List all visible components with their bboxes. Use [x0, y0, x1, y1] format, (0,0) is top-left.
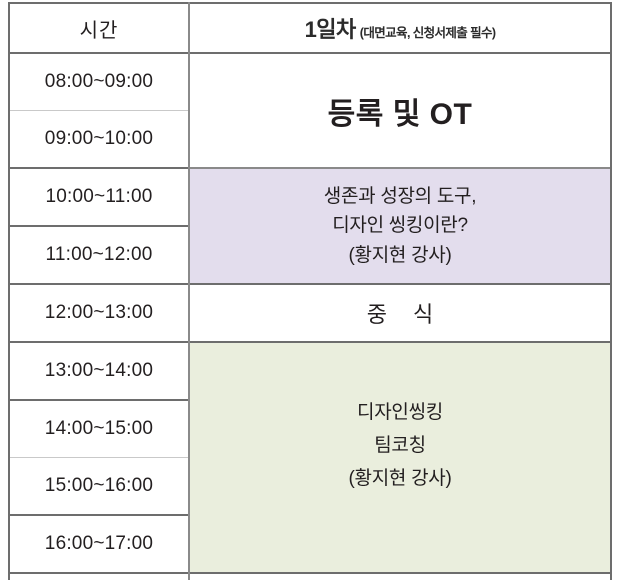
lecture-line-3: (황지현 강사)	[190, 241, 610, 270]
time-cell: 08:00~09:00	[9, 53, 189, 111]
table-header-row: 시간 1일차(대면교육, 신청서제출 필수)	[9, 3, 611, 53]
header-cell-time: 시간	[9, 3, 189, 53]
session-cell-orientation: 등록 및 OT	[189, 53, 611, 168]
header-day1-note: (대면교육, 신청서제출 필수)	[360, 26, 496, 40]
time-cell: 09:00~10:00	[9, 111, 189, 169]
time-cell: 14:00~15:00	[9, 400, 189, 458]
time-cell: 16:00~17:00	[9, 515, 189, 573]
session-cell-coaching: 디자인씽킹 팀코칭 (황지현 강사)	[189, 342, 611, 573]
lunch-label-part2: 식	[413, 302, 433, 327]
session-cell-lunch: 중식	[189, 284, 611, 342]
lecture-line-2: 디자인 씽킹이란?	[190, 211, 610, 240]
lunch-label-part1: 중	[367, 302, 387, 327]
time-cell: 13:00~14:00	[9, 342, 189, 400]
table-row: 13:00~14:00 디자인씽킹 팀코칭 (황지현 강사)	[9, 342, 611, 400]
time-cell: 11:00~12:00	[9, 226, 189, 284]
coaching-line-2: 팀코칭	[190, 429, 610, 462]
coaching-line-3: (황지현 강사)	[190, 462, 610, 495]
time-cell: 15:00~16:00	[9, 458, 189, 516]
header-cell-day1: 1일차(대면교육, 신청서제출 필수)	[189, 3, 611, 53]
session-cell-lecture: 생존과 성장의 도구, 디자인 씽킹이란? (황지현 강사)	[189, 168, 611, 284]
schedule-table: 시간 1일차(대면교육, 신청서제출 필수) 08:00~09:00 등록 및 …	[8, 2, 612, 580]
header-day1-main: 1일차	[305, 17, 356, 42]
table-row: 08:00~09:00 등록 및 OT	[9, 53, 611, 111]
time-cell: 12:00~13:00	[9, 284, 189, 342]
table-row: 10:00~11:00 생존과 성장의 도구, 디자인 씽킹이란? (황지현 강…	[9, 168, 611, 226]
coaching-line-1: 디자인씽킹	[190, 396, 610, 429]
time-cell: 10:00~11:00	[9, 168, 189, 226]
table-row: 12:00~13:00 중식	[9, 284, 611, 342]
table-bottom-edge	[9, 573, 611, 580]
lecture-line-1: 생존과 성장의 도구,	[190, 182, 610, 211]
